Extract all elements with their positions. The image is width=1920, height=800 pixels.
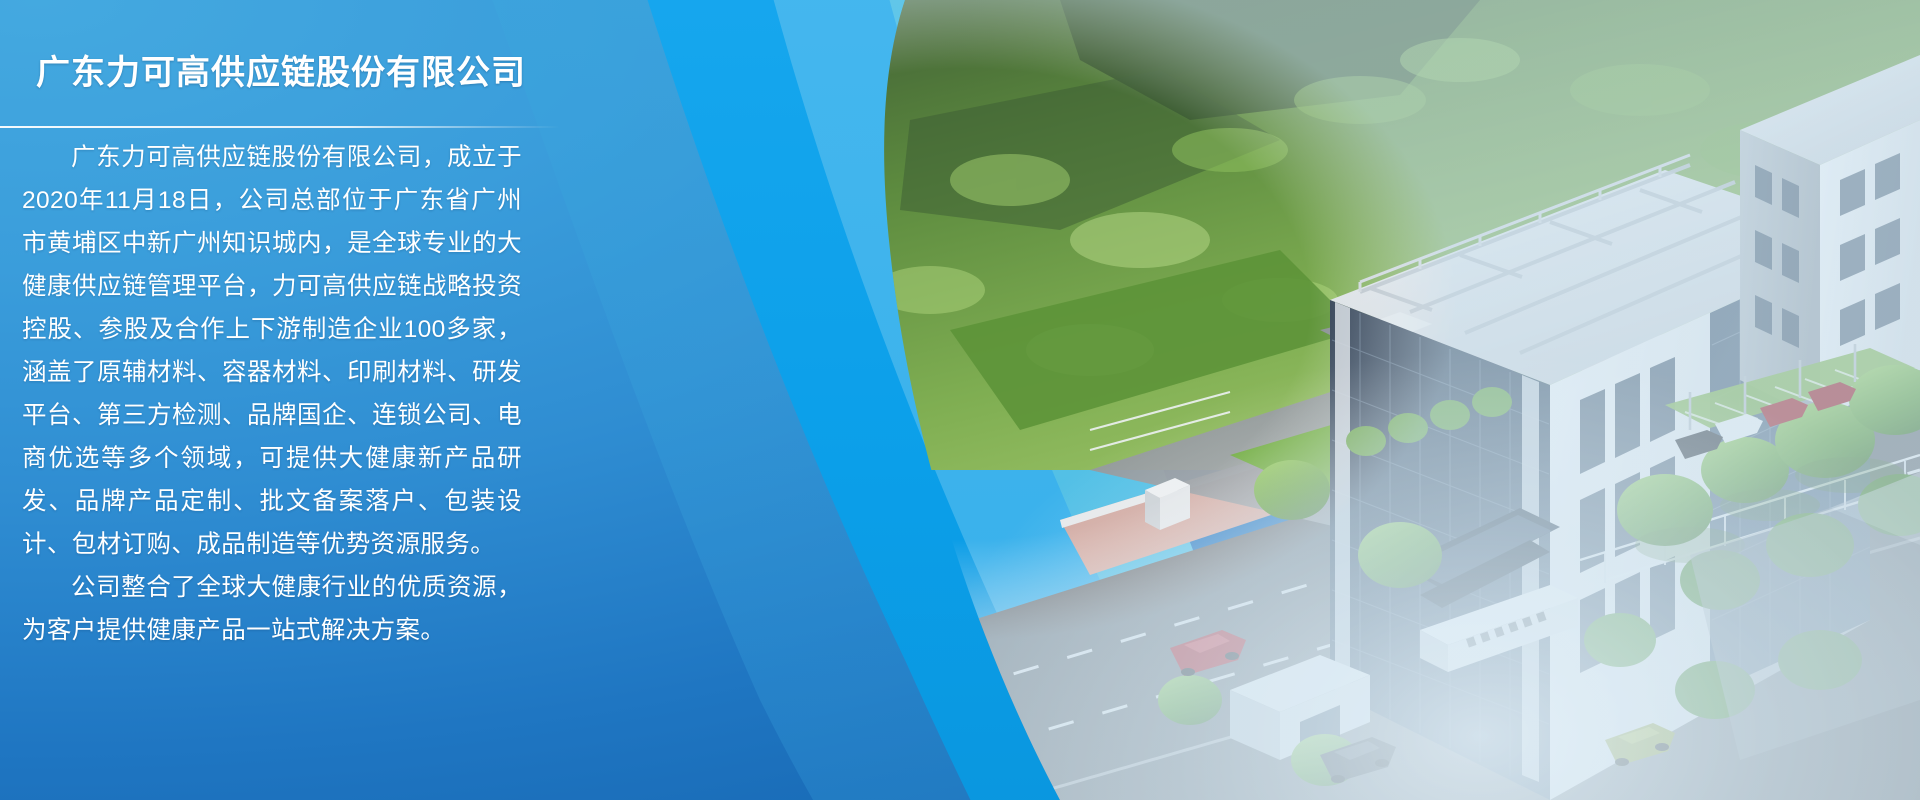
title-divider [0, 126, 560, 128]
edge-fade-overlay [760, 0, 1920, 800]
page-title: 广东力可高供应链股份有限公司 [36, 52, 526, 95]
banner-root: 广东力可高供应链股份有限公司 广东力可高供应链股份有限公司，成立于2020年11… [0, 0, 1920, 800]
paragraph-2: 公司整合了全球大健康行业的优质资源，为客户提供健康产品一站式解决方案。 [22, 566, 522, 652]
facility-rendering-photo [760, 0, 1920, 800]
paragraph-1: 广东力可高供应链股份有限公司，成立于2020年11月18日，公司总部位于广东省广… [22, 136, 522, 566]
company-description: 广东力可高供应链股份有限公司，成立于2020年11月18日，公司总部位于广东省广… [22, 136, 522, 652]
text-column: 广东力可高供应链股份有限公司 广东力可高供应链股份有限公司，成立于2020年11… [0, 0, 560, 800]
